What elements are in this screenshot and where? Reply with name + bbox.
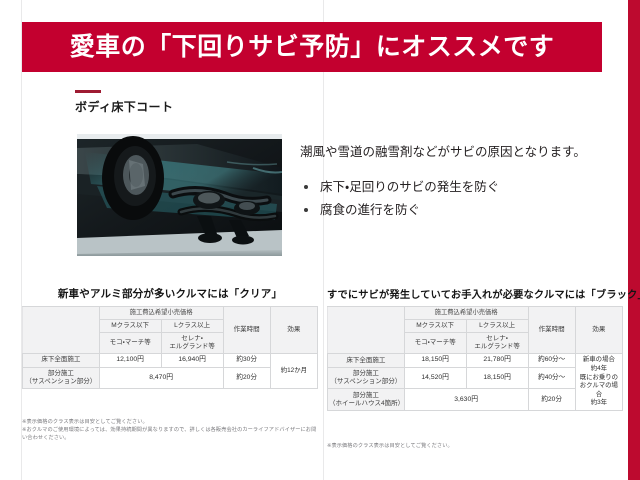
section-accent-rule: [75, 90, 101, 93]
cell-effect-duration: 新車の場合約4年既にお乗りのおクルマの場合約3年: [575, 354, 622, 411]
left-hairline: [21, 0, 22, 480]
right-edge-red-stripe: [628, 0, 640, 480]
list-item-label: 腐食の進行を防ぐ: [320, 203, 420, 217]
column-examples-class-large: セレナ・エルグランド等: [466, 332, 528, 353]
cell-price-small: 14,520円: [404, 367, 466, 389]
banner-title: 愛車の「下回りサビ予防」にオススメです: [70, 35, 555, 60]
table-row: 施工費込希望小売価格 作業時間 効果: [328, 307, 623, 320]
cell-price-merged: 8,470円: [99, 367, 223, 388]
row-label-partial-suspension: 部分施工（サスペンション部分）: [23, 367, 100, 388]
column-examples-class-small: モコ・マーチ等: [404, 332, 466, 353]
table-row: 床下全面施工 18,150円 21,780円 約60分〜 新車の場合約4年既にお…: [328, 354, 623, 368]
panel-heading-black: すでにサビが発生していてお手入れが必要なクルマには「ブラック」: [327, 286, 623, 301]
note-line: ※おクルマのご使用環境によっては、効果持続期間が異なりますので、詳しくは各販売会…: [22, 426, 318, 442]
center-hairline: [323, 0, 324, 480]
section-title: ボディ床下コート: [75, 98, 173, 115]
bullet-dot-icon: [304, 185, 308, 189]
column-header-class-small: Mクラス以下: [99, 319, 161, 332]
list-item: 腐食の進行を防ぐ: [300, 199, 600, 222]
column-header-work-time: 作業時間: [528, 307, 575, 354]
advertisement-page: 愛車の「下回りサビ予防」にオススメです ボディ床下コート: [0, 0, 640, 480]
table-row: 施工費込希望小売価格 作業時間 効果: [23, 307, 318, 320]
cell-price-merged: 3,630円: [404, 389, 528, 411]
note-line: ※表示価格のクラス表示は目安としてご覧ください。: [22, 418, 318, 426]
row-label-partial-wheelhouse: 部分施工（ホイールハウス4箇所）: [328, 389, 405, 411]
car-underbody-photo: [77, 134, 282, 256]
column-header-effect: 効果: [575, 307, 622, 354]
price-panel-clear: 新車やアルミ部分が多いクルマには「クリア」 施工費込希望小売価格 作業時間 効果…: [22, 286, 318, 389]
car-underbody-illustration: [77, 134, 282, 256]
lead-paragraph: 潮風や雪道の融雪剤などがサビの原因となります。: [300, 143, 600, 162]
price-table-black: 施工費込希望小売価格 作業時間 効果 Mクラス以下 Lクラス以上 モコ・マーチ等…: [327, 306, 623, 411]
list-item: 床下・足回りのサビの発生を防ぐ: [300, 176, 600, 199]
table-corner-cell: [328, 307, 405, 354]
cell-effect-duration: 約12か月: [270, 354, 317, 389]
cell-work-time: 約60分〜: [528, 354, 575, 368]
column-header-effect: 効果: [270, 307, 317, 354]
cell-work-time: 約30分: [223, 354, 270, 367]
cell-price-large: 16,940円: [161, 354, 223, 367]
bullet-dot-icon: [304, 208, 308, 212]
row-label-partial-suspension: 部分施工（サスペンション部分）: [328, 367, 405, 389]
header-banner: 愛車の「下回りサビ予防」にオススメです: [22, 22, 602, 72]
cell-work-time: 約20分: [223, 367, 270, 388]
column-group-header: 施工費込希望小売価格: [404, 307, 528, 320]
price-table-clear: 施工費込希望小売価格 作業時間 効果 Mクラス以下 Lクラス以上 モコ・マーチ等…: [22, 306, 318, 389]
column-header-class-large: Lクラス以上: [161, 319, 223, 332]
table-row: 床下全面施工 12,100円 16,940円 約30分 約12か月: [23, 354, 318, 367]
panel-heading-clear: 新車やアルミ部分が多いクルマには「クリア」: [22, 286, 318, 301]
table-corner-cell: [23, 307, 100, 354]
row-label-full-coat: 床下全面施工: [23, 354, 100, 367]
column-header-class-large: Lクラス以上: [466, 319, 528, 332]
cell-work-time: 約20分: [528, 389, 575, 411]
column-header-class-small: Mクラス以下: [404, 319, 466, 332]
column-examples-class-large: セレナ・エルグランド等: [161, 332, 223, 353]
list-item-label: 床下・足回りのサビの発生を防ぐ: [320, 180, 499, 194]
cell-price-large: 18,150円: [466, 367, 528, 389]
cell-price-small: 18,150円: [404, 354, 466, 368]
notes-black: ※表示価格のクラス表示は目安としてご覧ください。: [327, 442, 623, 450]
benefit-list: 床下・足回りのサビの発生を防ぐ 腐食の進行を防ぐ: [300, 176, 600, 222]
cell-price-small: 12,100円: [99, 354, 161, 367]
price-panel-black: すでにサビが発生していてお手入れが必要なクルマには「ブラック」 施工費込希望小売…: [327, 286, 623, 411]
notes-clear: ※表示価格のクラス表示は目安としてご覧ください。 ※おクルマのご使用環境によって…: [22, 418, 318, 442]
column-examples-class-small: モコ・マーチ等: [99, 332, 161, 353]
cell-work-time: 約40分〜: [528, 367, 575, 389]
column-header-work-time: 作業時間: [223, 307, 270, 354]
cell-price-large: 21,780円: [466, 354, 528, 368]
note-line: ※表示価格のクラス表示は目安としてご覧ください。: [327, 442, 623, 450]
column-group-header: 施工費込希望小売価格: [99, 307, 223, 320]
row-label-full-coat: 床下全面施工: [328, 354, 405, 368]
